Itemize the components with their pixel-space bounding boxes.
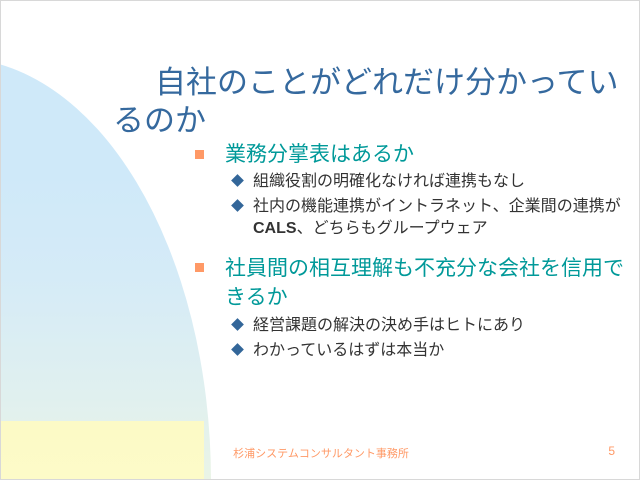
level2-bullet-emphasis: CALS <box>253 220 297 237</box>
level1-bullet-text: 社員間の相互理解も不充分な会社を信用できるか <box>225 257 624 309</box>
presentation-slide: 自社のことがどれだけ分かっているのか 業務分掌表はあるか 組織役割の明確化なけれ… <box>0 0 640 480</box>
level2-bullet: 経営課題の解決の決め手はヒトにあり <box>191 315 640 337</box>
level2-bullet: わかっているはずは本当か <box>191 340 640 362</box>
diamond-bullet-icon <box>231 174 244 187</box>
square-bullet-icon <box>195 263 204 272</box>
level1-bullet: 社員間の相互理解も不充分な会社を信用できるか <box>191 254 640 312</box>
level2-bullet-text: 組織役割の明確化なければ連携もなし <box>253 173 525 190</box>
level1-bullet-text: 業務分掌表はあるか <box>225 143 414 166</box>
level2-bullet-text-tail: 、どちらもグループウェア <box>297 220 488 237</box>
level2-bullet-text-cont: の連携が <box>557 198 621 215</box>
slide-body: 業務分掌表はあるか 組織役割の明確化なければ連携もなし 社内の機能連携がイントラ… <box>191 141 640 368</box>
bullet-group-2: 社員間の相互理解も不充分な会社を信用できるか 経営課題の解決の決め手はヒトにあり… <box>191 254 640 362</box>
diamond-bullet-icon <box>231 199 244 212</box>
slide-page-number: 5 <box>608 444 615 458</box>
level2-bullet: 組織役割の明確化なければ連携もなし <box>191 171 640 193</box>
bullet-group-1: 業務分掌表はあるか 組織役割の明確化なければ連携もなし 社内の機能連携がイントラ… <box>191 141 640 240</box>
level2-bullet-text: わかっているはずは本当か <box>253 342 444 359</box>
level2-bullet-text: 社内の機能連携がイントラネット、企業間 <box>253 198 557 215</box>
level2-bullet-text: 経営課題の解決の決め手はヒトにあり <box>253 317 525 334</box>
diamond-bullet-icon <box>231 343 244 356</box>
slide-title: 自社のことがどれだけ分かっているのか <box>113 64 629 140</box>
slide-footer: 杉浦システムコンサルタント事務所 <box>1 445 640 461</box>
level2-bullet: 社内の機能連携がイントラネット、企業間の連携がCALS、どちらもグループウェア <box>191 196 640 240</box>
square-bullet-icon <box>195 150 204 159</box>
diamond-bullet-icon <box>231 318 244 331</box>
level1-bullet: 業務分掌表はあるか <box>191 141 640 168</box>
